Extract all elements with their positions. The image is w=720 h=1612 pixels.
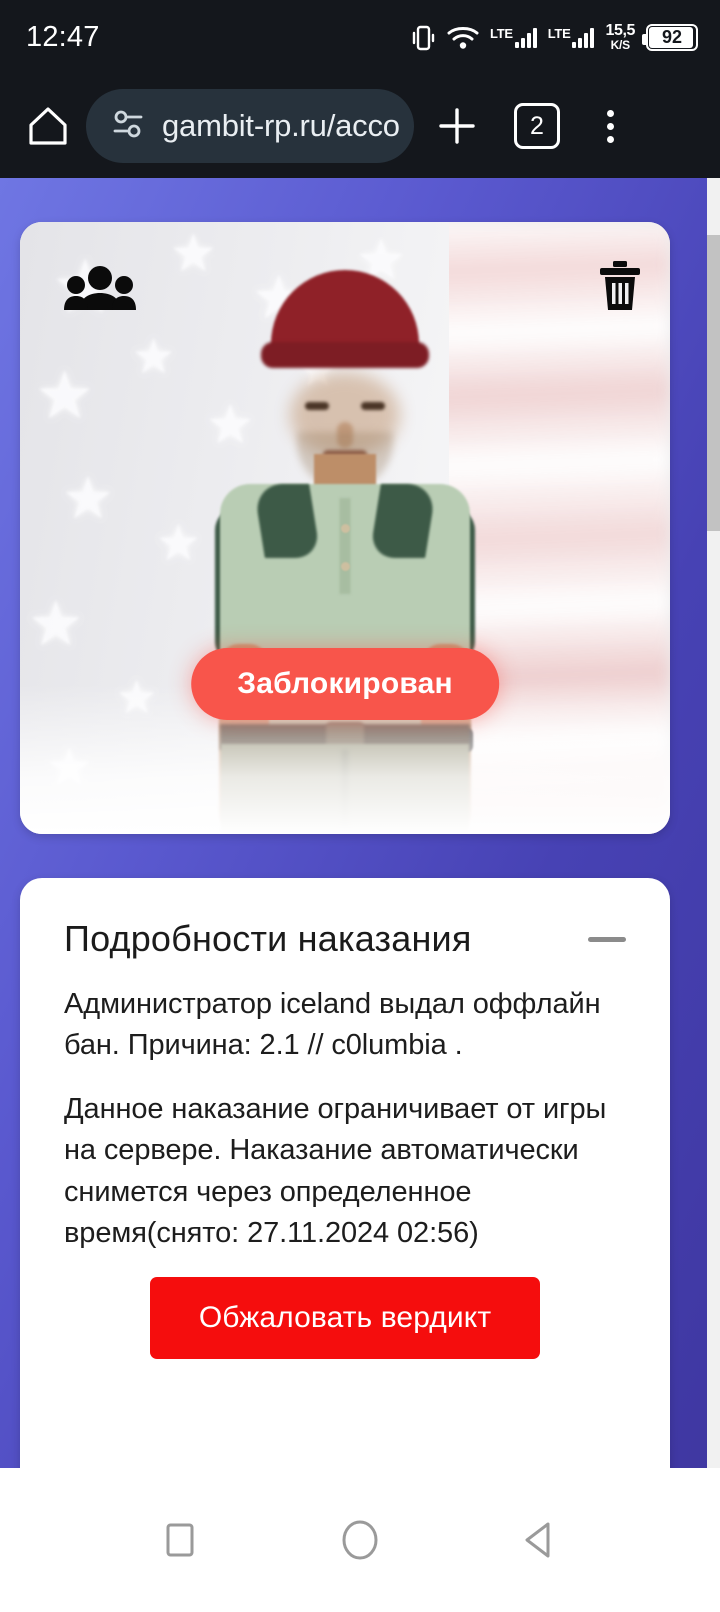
battery-percent-label: 92 xyxy=(662,27,682,48)
users-icon[interactable] xyxy=(64,264,136,319)
sim2-label: LTE xyxy=(548,28,571,39)
more-vertical-icon[interactable] xyxy=(582,91,638,161)
punishment-description-text: Данное наказание ограничивает от игры на… xyxy=(64,1089,626,1255)
character-card: ★ ★ ★ ★ ★ ★ ★ ★ ★ ★ ★ ★ ★ ★ xyxy=(20,222,670,834)
punishment-reason-text: Администратор iceland выдал оффлайн бан.… xyxy=(64,984,626,1067)
square-icon[interactable] xyxy=(140,1500,220,1580)
new-tab-button[interactable] xyxy=(422,91,492,161)
minus-icon[interactable] xyxy=(588,937,626,942)
status-bar-icons: LTE LTE 15,5 K/S 92 xyxy=(410,22,698,52)
web-page-content: ★ ★ ★ ★ ★ ★ ★ ★ ★ ★ ★ ★ ★ ★ xyxy=(0,178,720,1468)
page-scrollbar-track[interactable] xyxy=(707,178,720,1468)
page-scrollbar-thumb[interactable] xyxy=(707,235,720,531)
home-icon[interactable] xyxy=(18,96,78,156)
url-text[interactable]: gambit-rp.ru/acco xyxy=(162,108,400,144)
punishment-card-title: Подробности наказания xyxy=(64,918,472,960)
sim2-signal-icon: LTE xyxy=(548,27,595,48)
network-speed-indicator: 15,5 K/S xyxy=(605,23,635,51)
site-settings-icon[interactable] xyxy=(110,107,146,146)
punishment-card-header[interactable]: Подробности наказания xyxy=(64,918,626,960)
wifi-icon xyxy=(447,22,479,52)
sim1-bars xyxy=(515,27,537,48)
vibrate-icon xyxy=(410,22,436,52)
triangle-back-icon[interactable] xyxy=(500,1500,580,1580)
sim2-bars xyxy=(572,27,594,48)
punishment-details-card: Подробности наказания Администратор icel… xyxy=(20,878,670,1468)
appeal-verdict-button[interactable]: Обжаловать вердикт xyxy=(150,1277,540,1359)
network-speed-value: 15,5 xyxy=(605,23,635,39)
network-speed-unit: K/S xyxy=(611,39,630,51)
sim1-signal-icon: LTE xyxy=(490,27,537,48)
circle-icon[interactable] xyxy=(320,1500,400,1580)
trash-icon[interactable] xyxy=(598,260,642,317)
browser-toolbar: gambit-rp.ru/acco 2 xyxy=(0,74,720,178)
phone-screen: 12:47 LTE LTE xyxy=(0,0,720,1612)
url-bar[interactable]: gambit-rp.ru/acco xyxy=(86,89,414,163)
sim1-label: LTE xyxy=(490,28,513,39)
status-bar: 12:47 LTE LTE xyxy=(0,0,720,74)
status-badge: Заблокирован xyxy=(191,648,499,720)
tab-count-label[interactable]: 2 xyxy=(514,103,560,149)
tab-switcher-button[interactable]: 2 xyxy=(500,91,574,161)
battery-icon: 92 xyxy=(646,24,698,51)
status-bar-clock: 12:47 xyxy=(26,21,100,54)
android-navigation-bar xyxy=(0,1468,720,1612)
